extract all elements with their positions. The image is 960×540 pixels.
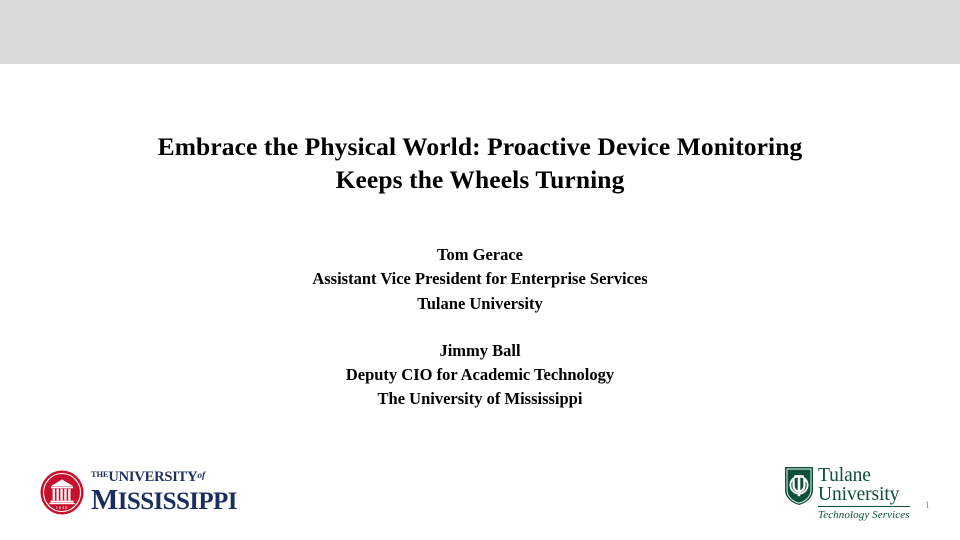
- ole-miss-wordmark-line1: THEUNIVERSITYof: [91, 470, 237, 485]
- seal-year-text: 1848: [56, 505, 69, 510]
- header-band: [0, 0, 960, 64]
- ole-miss-seal-icon: 1848: [40, 470, 84, 515]
- wordmark-of-text: of: [197, 471, 205, 481]
- presenter-organization: Tulane University: [60, 292, 900, 316]
- tulane-divider: [818, 506, 910, 507]
- presenter-name: Tom Gerace: [60, 243, 900, 267]
- presenter-block-1: Tom Gerace Assistant Vice President for …: [60, 243, 900, 316]
- presenter-block-2: Jimmy Ball Deputy CIO for Academic Techn…: [60, 339, 900, 412]
- slide-number: 1: [925, 500, 930, 510]
- title-line-2: Keeps the Wheels Turning: [60, 163, 900, 196]
- title-line-1: Embrace the Physical World: Proactive De…: [60, 130, 900, 163]
- tulane-tagline: Technology Services: [818, 510, 910, 521]
- tulane-shield-icon: [784, 466, 814, 506]
- presenter-list: Tom Gerace Assistant Vice President for …: [60, 243, 900, 412]
- wordmark-the-text: THE: [91, 469, 108, 479]
- wordmark-mississippi-rest: ISSISSIPPI: [118, 488, 237, 515]
- tulane-name-line2: University: [818, 485, 910, 505]
- presenter-role: Deputy CIO for Academic Technology: [60, 363, 900, 387]
- title-slide: Embrace the Physical World: Proactive De…: [0, 0, 960, 540]
- university-of-mississippi-logo: 1848 THEUNIVERSITYof MISSISSIPPI: [40, 470, 237, 515]
- ole-miss-wordmark: THEUNIVERSITYof MISSISSIPPI: [91, 470, 237, 515]
- wordmark-university-text: UNIVERSITY: [108, 469, 197, 485]
- page-title: Embrace the Physical World: Proactive De…: [60, 130, 900, 196]
- ole-miss-wordmark-line2: MISSISSIPPI: [91, 486, 237, 515]
- wordmark-mississippi-cap: M: [91, 484, 118, 516]
- tulane-wordmark: Tulane University Technology Services: [818, 466, 910, 521]
- presenter-name: Jimmy Ball: [60, 339, 900, 363]
- tulane-name-line1: Tulane: [818, 466, 910, 486]
- tulane-university-logo: Tulane University Technology Services: [784, 466, 910, 521]
- presenter-role: Assistant Vice President for Enterprise …: [60, 267, 900, 291]
- presenter-organization: The University of Mississippi: [60, 387, 900, 411]
